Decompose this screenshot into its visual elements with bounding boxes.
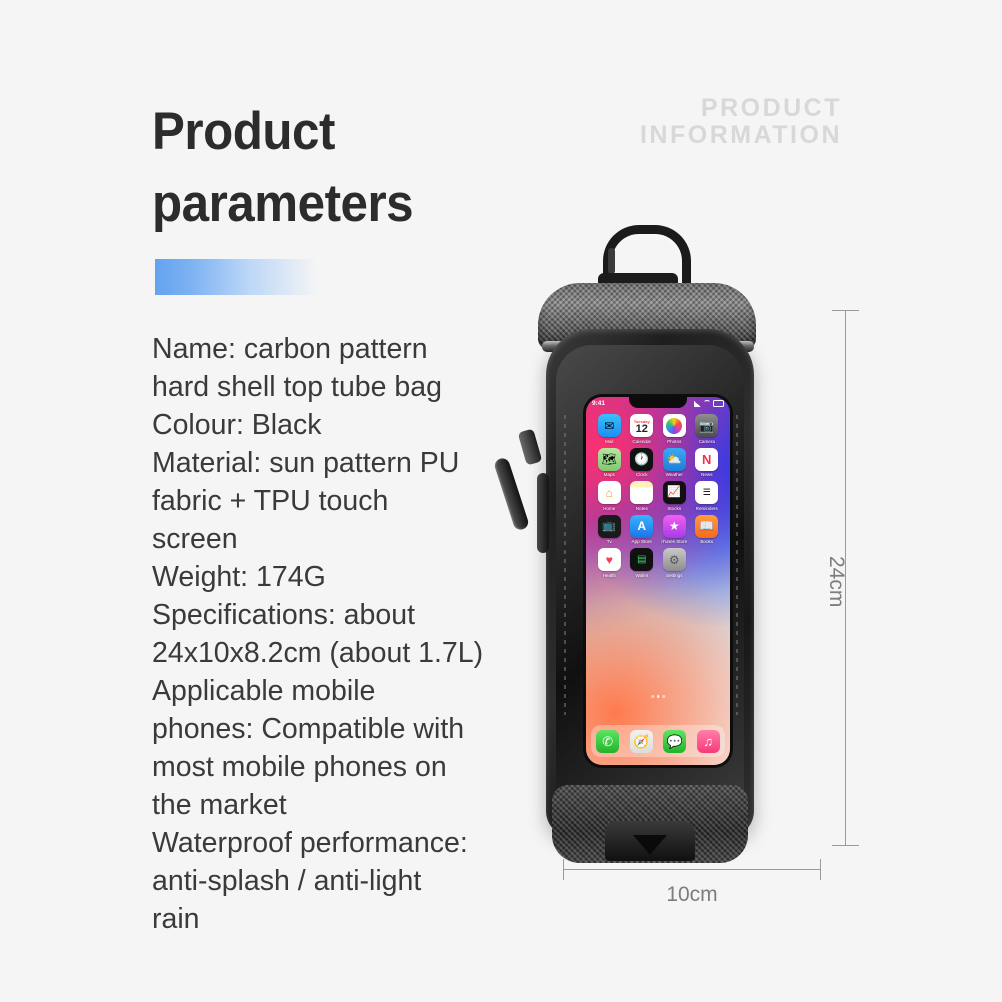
app-label: Calendar xyxy=(632,439,651,444)
calendar-icon: Tuesday 12 xyxy=(630,414,653,437)
spec-line: rain xyxy=(152,900,512,938)
page-dot xyxy=(662,695,665,698)
wallet-icon: ▤ xyxy=(630,548,653,571)
spec-line: Specifications: about xyxy=(152,596,512,634)
page-title-line-1: Product xyxy=(152,102,335,161)
app-label: Camera xyxy=(699,439,715,444)
dimension-cap-top xyxy=(832,310,859,311)
watermark-line-2: INFORMATION xyxy=(640,121,842,149)
zipper-pull-tab-secondary xyxy=(537,473,549,553)
itunes-store-icon: ★ xyxy=(663,515,686,538)
app-label: Wallet xyxy=(635,573,648,578)
bag-mount-bracket xyxy=(605,821,695,861)
app-label: News xyxy=(701,472,713,477)
page-title: Product parameters xyxy=(152,96,543,240)
page-dot-active xyxy=(657,695,660,698)
page-indicator-dots xyxy=(651,695,665,698)
zipper-slider xyxy=(518,428,543,465)
safari-icon[interactable]: 🧭 xyxy=(630,730,653,753)
maps-icon: 🗺 xyxy=(598,448,621,471)
messages-icon[interactable]: 💬 xyxy=(663,730,686,753)
news-icon: N xyxy=(695,448,718,471)
app-label: Settings xyxy=(666,573,683,578)
tv-icon: 📺 xyxy=(598,515,621,538)
product-info-page: PRODUCT INFORMATION Product parameters N… xyxy=(0,0,1002,1002)
notes-icon xyxy=(630,481,653,504)
app-icon-stocks[interactable]: 📈 Stocks xyxy=(658,481,691,511)
home-icon: ⌂ xyxy=(598,481,621,504)
app-label: Clock xyxy=(636,472,648,477)
app-label: App Store xyxy=(632,539,652,544)
width-dimension-label: 10cm xyxy=(563,883,821,907)
app-label: Photos xyxy=(667,439,681,444)
mail-icon: ✉ xyxy=(598,414,621,437)
health-icon: ♥ xyxy=(598,548,621,571)
dimension-cap-right xyxy=(820,859,821,880)
page-dot xyxy=(651,695,654,698)
app-store-icon: A xyxy=(630,515,653,538)
app-icon-wallet[interactable]: ▤ Wallet xyxy=(626,548,659,578)
width-dimension-line xyxy=(563,869,821,870)
phone-icon[interactable]: ✆ xyxy=(596,730,619,753)
app-label: Health xyxy=(603,573,616,578)
app-icon-news[interactable]: N News xyxy=(691,448,724,478)
app-icon-app-store[interactable]: A App Store xyxy=(626,515,659,545)
spec-line: Weight: 174G xyxy=(152,558,512,596)
battery-icon xyxy=(713,400,724,407)
spec-line: most mobile phones on xyxy=(152,748,512,786)
app-label: Reminders xyxy=(696,506,718,511)
spec-line: the market xyxy=(152,786,512,824)
settings-icon: ⚙ xyxy=(663,548,686,571)
app-label: Home xyxy=(603,506,615,511)
app-icon-weather[interactable]: ⛅ Weather xyxy=(658,448,691,478)
accent-gradient-bar xyxy=(155,259,317,295)
spec-line: fabric + TPU touch xyxy=(152,482,512,520)
books-icon: 📖 xyxy=(695,515,718,538)
camera-icon: 📷 xyxy=(695,414,718,437)
phone-dock: ✆ 🧭 💬 ♫ xyxy=(591,725,725,757)
spec-line: Waterproof performance: xyxy=(152,824,512,862)
photos-icon xyxy=(663,414,686,437)
spec-line: Material: sun pattern PU xyxy=(152,444,512,482)
phone-app-grid: ✉ Mail Tuesday 12 Calendar Photos 📷 Ca xyxy=(586,414,730,578)
app-label: Maps xyxy=(604,472,615,477)
clock-icon: 🕐 xyxy=(630,448,653,471)
app-icon-clock[interactable]: 🕐 Clock xyxy=(626,448,659,478)
bag-stitching-right xyxy=(736,415,738,715)
page-title-line-2: parameters xyxy=(152,168,543,240)
app-icon-itunes-store[interactable]: ★ iTunes Store xyxy=(658,515,691,545)
spec-line: phones: Compatible with xyxy=(152,710,512,748)
spec-line: anti-splash / anti-light xyxy=(152,862,512,900)
wifi-icon xyxy=(703,400,711,408)
phone-status-bar: 9:41 xyxy=(586,398,730,409)
app-label: Notes xyxy=(636,506,648,511)
watermark-text: PRODUCT INFORMATION xyxy=(640,95,842,149)
app-icon-settings[interactable]: ⚙ Settings xyxy=(658,548,691,578)
app-label: Stocks xyxy=(667,506,681,511)
app-label: Books xyxy=(700,539,713,544)
music-icon[interactable]: ♫ xyxy=(697,730,720,753)
weather-icon: ⛅ xyxy=(663,448,686,471)
signal-icon xyxy=(694,401,701,407)
reminders-icon: ☰ xyxy=(695,481,718,504)
spec-line: Applicable mobile xyxy=(152,672,512,710)
app-icon-photos[interactable]: Photos xyxy=(658,414,691,444)
app-icon-mail[interactable]: ✉ Mail xyxy=(593,414,626,444)
app-icon-calendar[interactable]: Tuesday 12 Calendar xyxy=(626,414,659,444)
app-icon-maps[interactable]: 🗺 Maps xyxy=(593,448,626,478)
spec-line: hard shell top tube bag xyxy=(152,368,512,406)
app-label: Mail xyxy=(605,439,613,444)
app-icon-camera[interactable]: 📷 Camera xyxy=(691,414,724,444)
dimension-cap-left xyxy=(563,859,564,880)
app-label: iTunes Store xyxy=(661,539,687,544)
app-icon-tv[interactable]: 📺 Tv xyxy=(593,515,626,545)
dimension-cap-bottom xyxy=(832,845,859,846)
app-icon-health[interactable]: ♥ Health xyxy=(593,548,626,578)
app-icon-books[interactable]: 📖 Books xyxy=(691,515,724,545)
stocks-icon: 📈 xyxy=(663,481,686,504)
calendar-day: 12 xyxy=(636,424,648,435)
spec-line: screen xyxy=(152,520,512,558)
phone-screen: 9:41 ✉ Mail Tuesday 12 Calendar xyxy=(586,397,730,765)
app-icon-reminders[interactable]: ☰ Reminders xyxy=(691,481,724,511)
watermark-line-1: PRODUCT xyxy=(701,94,842,122)
spec-line: Name: carbon pattern xyxy=(152,330,512,368)
status-time: 9:41 xyxy=(592,400,605,407)
app-icon-home[interactable]: ⌂ Home xyxy=(593,481,626,511)
specification-list: Name: carbon pattern hard shell top tube… xyxy=(152,330,512,938)
app-icon-notes[interactable]: Notes xyxy=(626,481,659,511)
spec-line: Colour: Black xyxy=(152,406,512,444)
zipper-pull-tab xyxy=(493,456,530,531)
bag-stitching-left xyxy=(564,415,566,715)
app-label: Weather xyxy=(666,472,683,477)
product-photo: 9:41 ✉ Mail Tuesday 12 Calendar xyxy=(490,225,820,875)
spec-line: 24x10x8.2cm (about 1.7L) xyxy=(152,634,512,672)
height-dimension-label: 24cm xyxy=(824,556,848,607)
app-label: Tv xyxy=(607,539,612,544)
